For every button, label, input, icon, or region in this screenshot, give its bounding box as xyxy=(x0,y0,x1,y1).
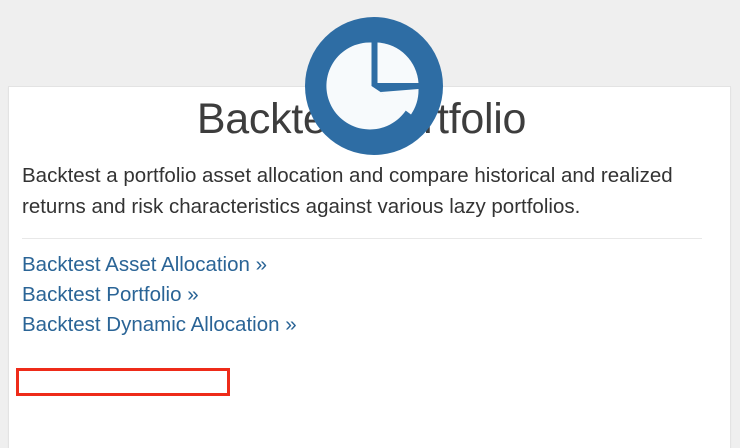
link-backtest-asset-allocation[interactable]: Backtest Asset Allocation » xyxy=(22,250,267,280)
link-backtest-dynamic-allocation[interactable]: Backtest Dynamic Allocation » xyxy=(22,310,297,340)
pie-chart-icon xyxy=(305,17,443,155)
page-root: Backtest Portfolio Backtest a portfolio … xyxy=(0,0,740,448)
list-item: Backtest Dynamic Allocation » xyxy=(22,310,702,340)
page-description: Backtest a portfolio asset allocation an… xyxy=(22,160,702,222)
list-item: Backtest Portfolio » xyxy=(22,280,702,310)
list-item: Backtest Asset Allocation » xyxy=(22,250,702,280)
tool-link-list: Backtest Asset Allocation » Backtest Por… xyxy=(22,250,702,340)
content-divider xyxy=(22,238,702,239)
link-backtest-portfolio[interactable]: Backtest Portfolio » xyxy=(22,280,199,310)
